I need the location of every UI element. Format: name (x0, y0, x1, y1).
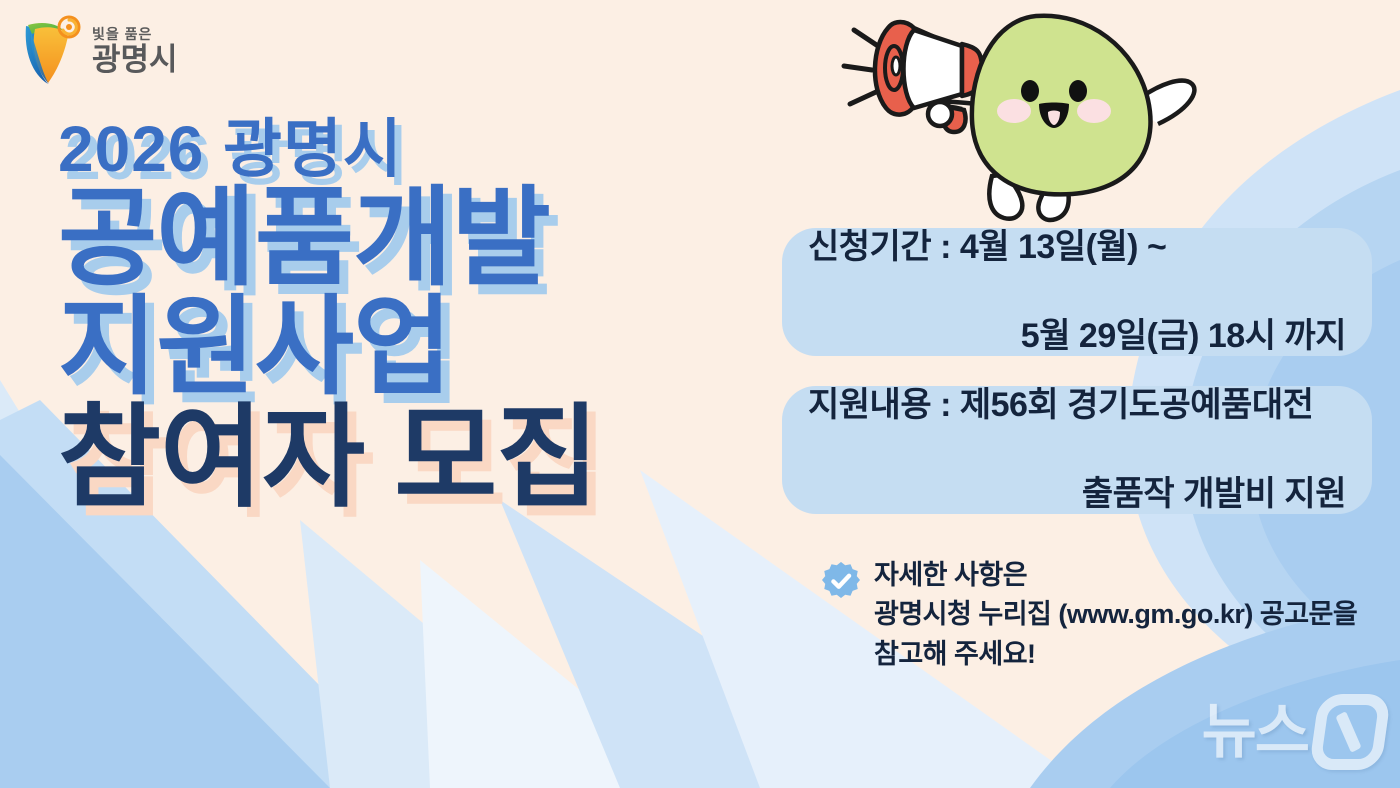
headline-line-4: 참여자 모집 (58, 404, 598, 513)
gwangmyeong-emblem-icon (18, 12, 84, 90)
mascot-illustration (836, 8, 1226, 233)
info-box-application-period: 신청기간 : 4월 13일(월) ~ 5월 29일(금) 18시 까지 (782, 228, 1372, 356)
note-block: 자세한 사항은 광명시청 누리집 (www.gm.go.kr) 공고문을 참고해… (822, 556, 1357, 674)
city-logo: 빛을 품은 광명시 (18, 12, 178, 90)
headline-block: 2026 광명시 공예품개발 지원사업 참여자 모집 (58, 118, 598, 512)
mascot-cheek-left (997, 99, 1031, 123)
logo-title: 광명시 (92, 44, 178, 75)
headline-year: 2026 광명시 (58, 118, 598, 180)
headline-line-2: 공예품개발 (58, 186, 598, 291)
note-line-2: 광명시청 누리집 (www.gm.go.kr) 공고문을 (874, 595, 1357, 634)
mascot-eye-right (1069, 80, 1087, 102)
note-line-1: 자세한 사항은 (874, 556, 1357, 595)
info-box-support-details: 지원내용 : 제56회 경기도공예품대전 출품작 개발비 지원 (782, 386, 1372, 514)
support-details-line-1: 지원내용 : 제56회 경기도공예품대전 (808, 383, 1346, 428)
watermark-text: 뉴스 (1202, 702, 1308, 762)
megaphone-icon (875, 22, 982, 132)
mascot-cheek-right (1077, 99, 1111, 123)
check-badge-icon (822, 562, 860, 600)
note-text: 자세한 사항은 광명시청 누리집 (www.gm.go.kr) 공고문을 참고해… (874, 556, 1357, 674)
support-details-text: 지원내용 : 제56회 경기도공예품대전 출품작 개발비 지원 (782, 338, 1372, 562)
support-details-line-2: 출품작 개발비 지원 (808, 472, 1346, 517)
logo-subtitle: 빛을 품은 (92, 27, 178, 42)
watermark-numeral-one (1309, 694, 1392, 770)
news1-watermark: 뉴스 (1202, 694, 1386, 770)
mascot-eye-left (1021, 80, 1039, 102)
headline-line-3: 지원사업 (58, 295, 598, 400)
note-line-3: 참고해 주세요! (874, 635, 1357, 674)
poster-canvas: 빛을 품은 광명시 2026 광명시 공예품개발 지원사업 참여자 모집 (0, 0, 1400, 788)
